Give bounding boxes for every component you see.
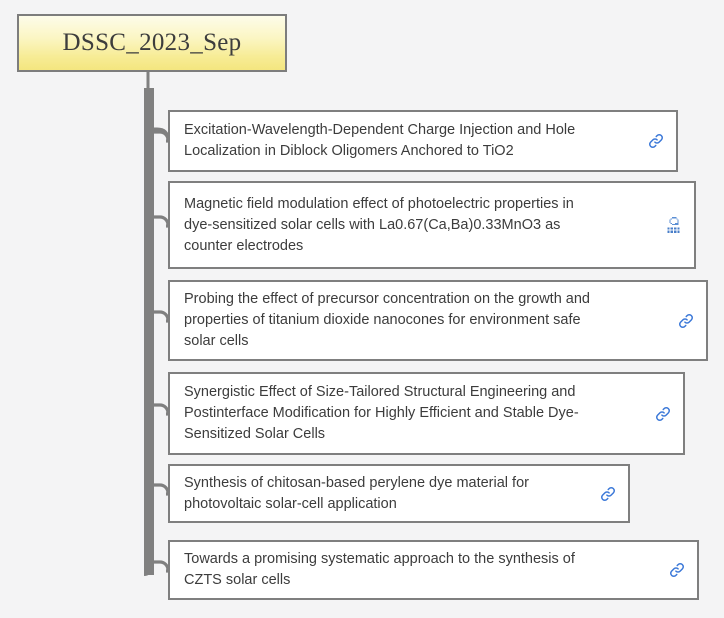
node-3[interactable]: Probing the effect of precursor concentr… [168, 280, 708, 361]
link-icon[interactable] [667, 560, 687, 580]
link-icon[interactable] [598, 484, 618, 504]
link-icon[interactable] [676, 311, 696, 331]
branch-elbows [152, 129, 168, 141]
link-icon[interactable] [653, 404, 673, 424]
node-2[interactable]: Magnetic field modulation effect of phot… [168, 181, 696, 269]
node-5[interactable]: Synthesis of chitosan-based perylene dye… [168, 464, 630, 523]
node-6-title: Towards a promising systematic approach … [184, 549, 667, 591]
elbow-6 [154, 562, 168, 571]
trunk [144, 88, 154, 575]
elbow-5 [154, 485, 168, 494]
node-4-title: Synergistic Effect of Size-Tailored Stru… [184, 382, 653, 445]
root-stub [147, 72, 150, 90]
database-icon[interactable] [664, 215, 684, 235]
trunk-bottom-cap [144, 560, 154, 576]
node-3-title: Probing the effect of precursor concentr… [184, 289, 676, 352]
branch-group [154, 132, 168, 571]
node-5-title: Synthesis of chitosan-based perylene dye… [184, 473, 598, 515]
mindmap-canvas: DSSC_2023_Sep Excitation-Wavelength-Depe… [0, 0, 724, 618]
root-node[interactable]: DSSC_2023_Sep [17, 14, 287, 72]
elbow-3 [154, 312, 168, 321]
elbow-2 [154, 217, 168, 226]
node-6[interactable]: Towards a promising systematic approach … [168, 540, 699, 600]
root-node-label: DSSC_2023_Sep [63, 29, 242, 57]
link-icon[interactable] [646, 131, 666, 151]
elbow-4 [154, 405, 168, 414]
node-4[interactable]: Synergistic Effect of Size-Tailored Stru… [168, 372, 685, 455]
node-1[interactable]: Excitation-Wavelength-Dependent Charge I… [168, 110, 678, 172]
node-1-title: Excitation-Wavelength-Dependent Charge I… [184, 120, 646, 162]
branch-1 [152, 129, 168, 141]
node-2-title: Magnetic field modulation effect of phot… [184, 194, 664, 257]
elbow-1 [154, 132, 168, 141]
